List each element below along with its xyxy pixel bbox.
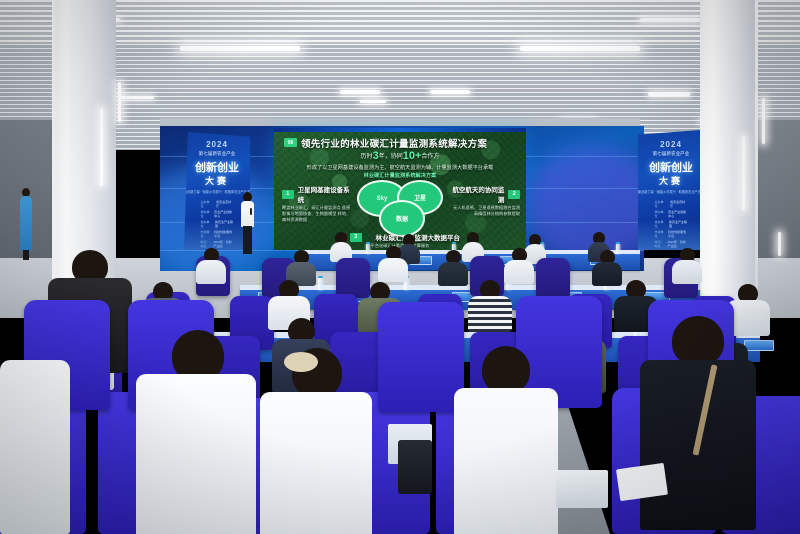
ceiling-light-tube — [360, 100, 386, 103]
banner-org-row: 主办单位 省农业农村厅 — [201, 200, 234, 208]
attendee-torso — [438, 262, 468, 286]
banner-org-value: 农业产业创新中心 — [214, 210, 233, 218]
column-led-strip — [762, 98, 765, 144]
banner-subtitle: 第七届新农业产业 — [653, 151, 690, 157]
banner-org-key: 主办单位 — [201, 200, 213, 208]
banner-org-row: 主办单位 省农业农村厅 — [655, 200, 688, 208]
tote-bag — [556, 470, 608, 508]
chair — [378, 302, 464, 412]
attendee — [468, 280, 512, 330]
slide-item-1-number: 1 — [282, 190, 294, 199]
hostess-in-blue-qipao — [18, 188, 34, 260]
banner-org-value: 农业产业创新中心 — [668, 210, 687, 218]
banner-main-title-2: 大赛 — [659, 174, 683, 187]
conference-hall-photo: 2024 第七届新农业产业 创新创业 大赛 汇聚创新力量 · 赋能乡村振兴 · … — [0, 0, 800, 534]
banner-year: 2024 — [206, 140, 228, 149]
microphone-icon — [250, 208, 252, 215]
paper-handout — [616, 463, 668, 501]
attendee — [672, 248, 702, 282]
banner-org-value: 省农业农村厅 — [670, 200, 687, 208]
attendee-torso — [378, 258, 408, 282]
attendee — [504, 248, 534, 282]
column-led-strip — [742, 136, 745, 210]
attendee — [136, 330, 256, 534]
water-bottle — [366, 244, 370, 254]
slide-item-2-header: 2 航空航天的协同监测 — [448, 184, 520, 204]
presenter-shirt — [241, 201, 254, 227]
ceiling-light-tube — [340, 90, 380, 94]
attendee — [286, 250, 316, 284]
banner-org-row: 承办单位 农业产业创新中心 — [201, 210, 234, 218]
presenter-trousers — [243, 226, 252, 254]
slide-subtitle: 历时3年，协同10+合作方 — [274, 150, 526, 162]
led-presentation-screen: 06 领先行业的林业碳汇计量监测系统解决方案 历时3年，协同10+合作方 形成了… — [274, 128, 526, 250]
attendee — [640, 316, 756, 526]
water-bottle — [318, 278, 323, 290]
attendee-torso — [196, 260, 226, 284]
slide-item-2-body: 无人机遥感、卫星遥感数据融合监测 高精度林分结构参数提取 — [448, 205, 520, 217]
banner-year: 2024 — [660, 140, 682, 149]
venn-diagram: Sky 卫星 数据 — [357, 180, 443, 236]
slide-line-2: 形成了以卫星网基建设备监测为主、航空航天监测为辅、计量监测大数据平台承载 — [274, 164, 526, 171]
chair — [536, 258, 570, 298]
black-bag — [398, 440, 432, 494]
banner-main-title: 创新创业 — [649, 159, 693, 175]
ceiling-light-tube — [520, 46, 640, 51]
attendee-white-shirt — [0, 360, 70, 534]
banner-tagline: 汇聚创新力量 · 赋能乡村振兴 · 助推新农业产业发展 — [638, 189, 704, 194]
hostess-dress — [20, 196, 32, 251]
attendee — [0, 360, 70, 534]
slide-item-1-title: 卫星网基建设备系统 — [298, 184, 354, 204]
column-led-strip — [100, 108, 103, 186]
banner-org-key: 承办单位 — [201, 210, 211, 218]
slide-item-1: 1 卫星网基建设备系统 覆盖林业碳汇、碳汇计量监测点 遥感影像与地面核查、生物量… — [282, 184, 354, 223]
attendee — [592, 250, 622, 284]
hair-clip-icon — [284, 352, 318, 372]
banner-main-title: 创新创业 — [195, 159, 239, 175]
banner-org-key: 承办单位 — [655, 210, 665, 218]
attendee — [196, 248, 226, 282]
attendee-head — [482, 346, 530, 394]
attendee — [378, 246, 408, 280]
subtitle-prefix: 历时 — [361, 154, 373, 160]
attendee-white-shirt — [136, 374, 256, 534]
screen-top-bar — [274, 128, 526, 132]
attendee-lace-top — [454, 388, 558, 534]
slide-item-1-body: 覆盖林业碳汇、碳汇计量监测点 遥感影像与地面核查、生物量模型 样地、森林资源数据 — [282, 205, 354, 223]
attendee — [438, 250, 468, 284]
attendee-torso — [672, 260, 702, 284]
subtitle-number-partners: 10+ — [403, 150, 422, 162]
presenter-on-stage — [240, 192, 255, 254]
slide-item-2-number: 2 — [508, 190, 520, 199]
banner-org-row: 承办单位 农业产业创新中心 — [655, 210, 688, 218]
banner-skyline-graphic — [638, 220, 704, 250]
slide-item-1-header: 1 卫星网基建设备系统 — [282, 184, 354, 204]
hostess-legs — [23, 250, 29, 260]
attendee-striped-shirt — [468, 296, 512, 332]
slide-item-2-title: 航空航天的协同监测 — [448, 184, 504, 204]
attendee — [330, 232, 352, 260]
ceiling-light-tube — [120, 96, 154, 99]
ceiling-light-tube — [640, 18, 700, 22]
slide-title: 领先行业的林业碳汇计量监测系统解决方案 — [301, 136, 487, 150]
banner-main-title-2: 大赛 — [205, 174, 229, 187]
column-led-strip — [778, 232, 781, 256]
right-event-banner: 2024 第七届新农业产业 创新创业 大赛 汇聚创新力量 · 赋能乡村振兴 · … — [638, 130, 704, 250]
column-led-strip — [118, 82, 121, 122]
attendee-head — [672, 316, 724, 366]
attendee-white-shirt — [260, 392, 372, 534]
attendee — [260, 348, 372, 534]
ceiling-light-tube — [180, 46, 300, 51]
ceiling-light-tube — [430, 90, 470, 94]
banner-org-key: 主办单位 — [655, 200, 667, 208]
subtitle-suffix: 合作方 — [421, 154, 439, 160]
banner-subtitle: 第七届新农业产业 — [199, 151, 236, 157]
slide-line-3: 林业碳汇计量监测系统解决方案 — [274, 172, 526, 179]
slide-number-badge: 06 — [284, 138, 297, 147]
banner-org-value: 省农业农村厅 — [216, 200, 233, 208]
ceiling-light-tube — [648, 92, 690, 96]
slide-item-2: 2 航空航天的协同监测 无人机遥感、卫星遥感数据融合监测 高精度林分结构参数提取 — [448, 184, 520, 217]
attendee — [454, 346, 558, 534]
subtitle-mid: 年，协同 — [379, 154, 403, 160]
